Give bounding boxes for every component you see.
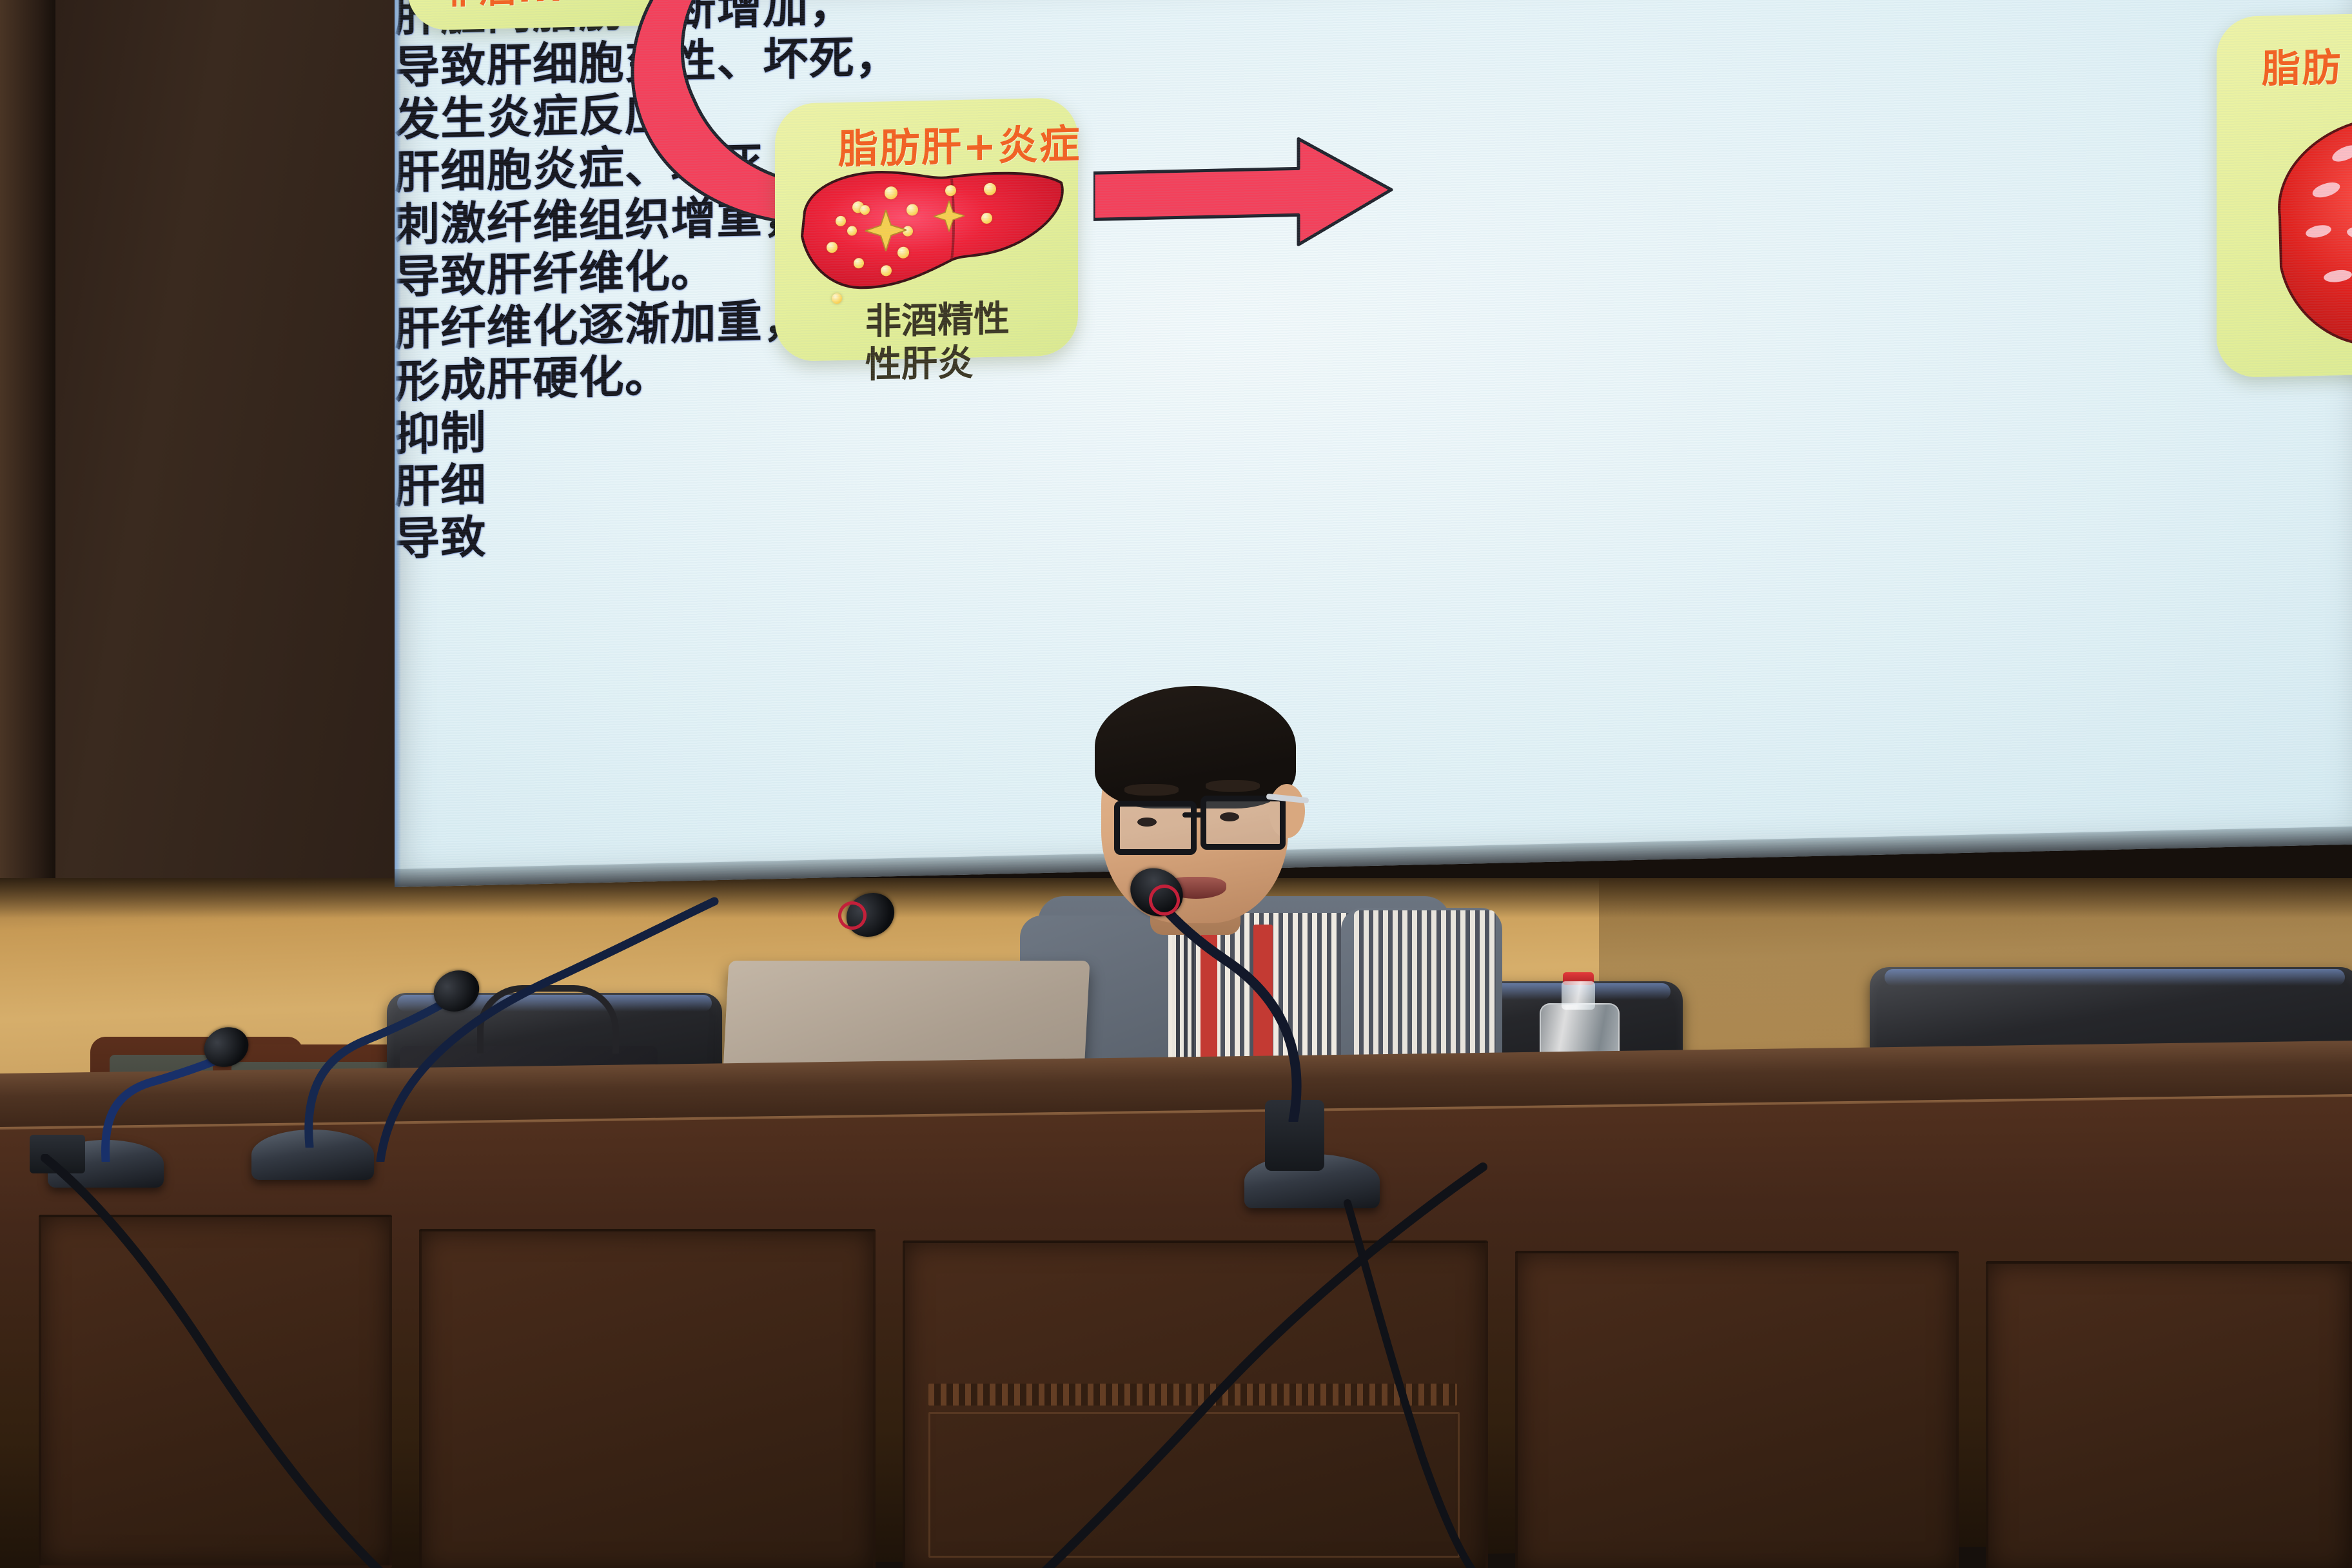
mic-gooseneck-far-left [71, 1039, 219, 1162]
glasses-bridge [1182, 812, 1204, 818]
glasses-lens-left [1114, 801, 1197, 855]
mic-cable-left [19, 1154, 548, 1568]
screen-left-edge [395, 0, 401, 887]
wall-dark-edge [0, 0, 55, 878]
presenter-brow-left [1124, 784, 1179, 796]
presenter-eye-left [1137, 818, 1157, 827]
wall-dark-panel [0, 0, 413, 878]
mic-gooseneck-speaker [1154, 890, 1347, 1122]
presenter-brow-right [1206, 780, 1260, 792]
glasses-lens-right [1200, 796, 1286, 850]
mic-gooseneck-center [361, 891, 722, 1162]
chair-highlight [1885, 969, 2345, 986]
desk-panel-5 [1986, 1261, 2352, 1568]
presenter-eye-right [1220, 812, 1239, 821]
mic-cable-speaker [1296, 1199, 1592, 1568]
lecture-photo-scene: 非酒... 肝脏内脂肪不断增加， 导致肝细胞变性、坏死， 发生炎症反应。 脂肪肝… [0, 0, 2352, 1568]
